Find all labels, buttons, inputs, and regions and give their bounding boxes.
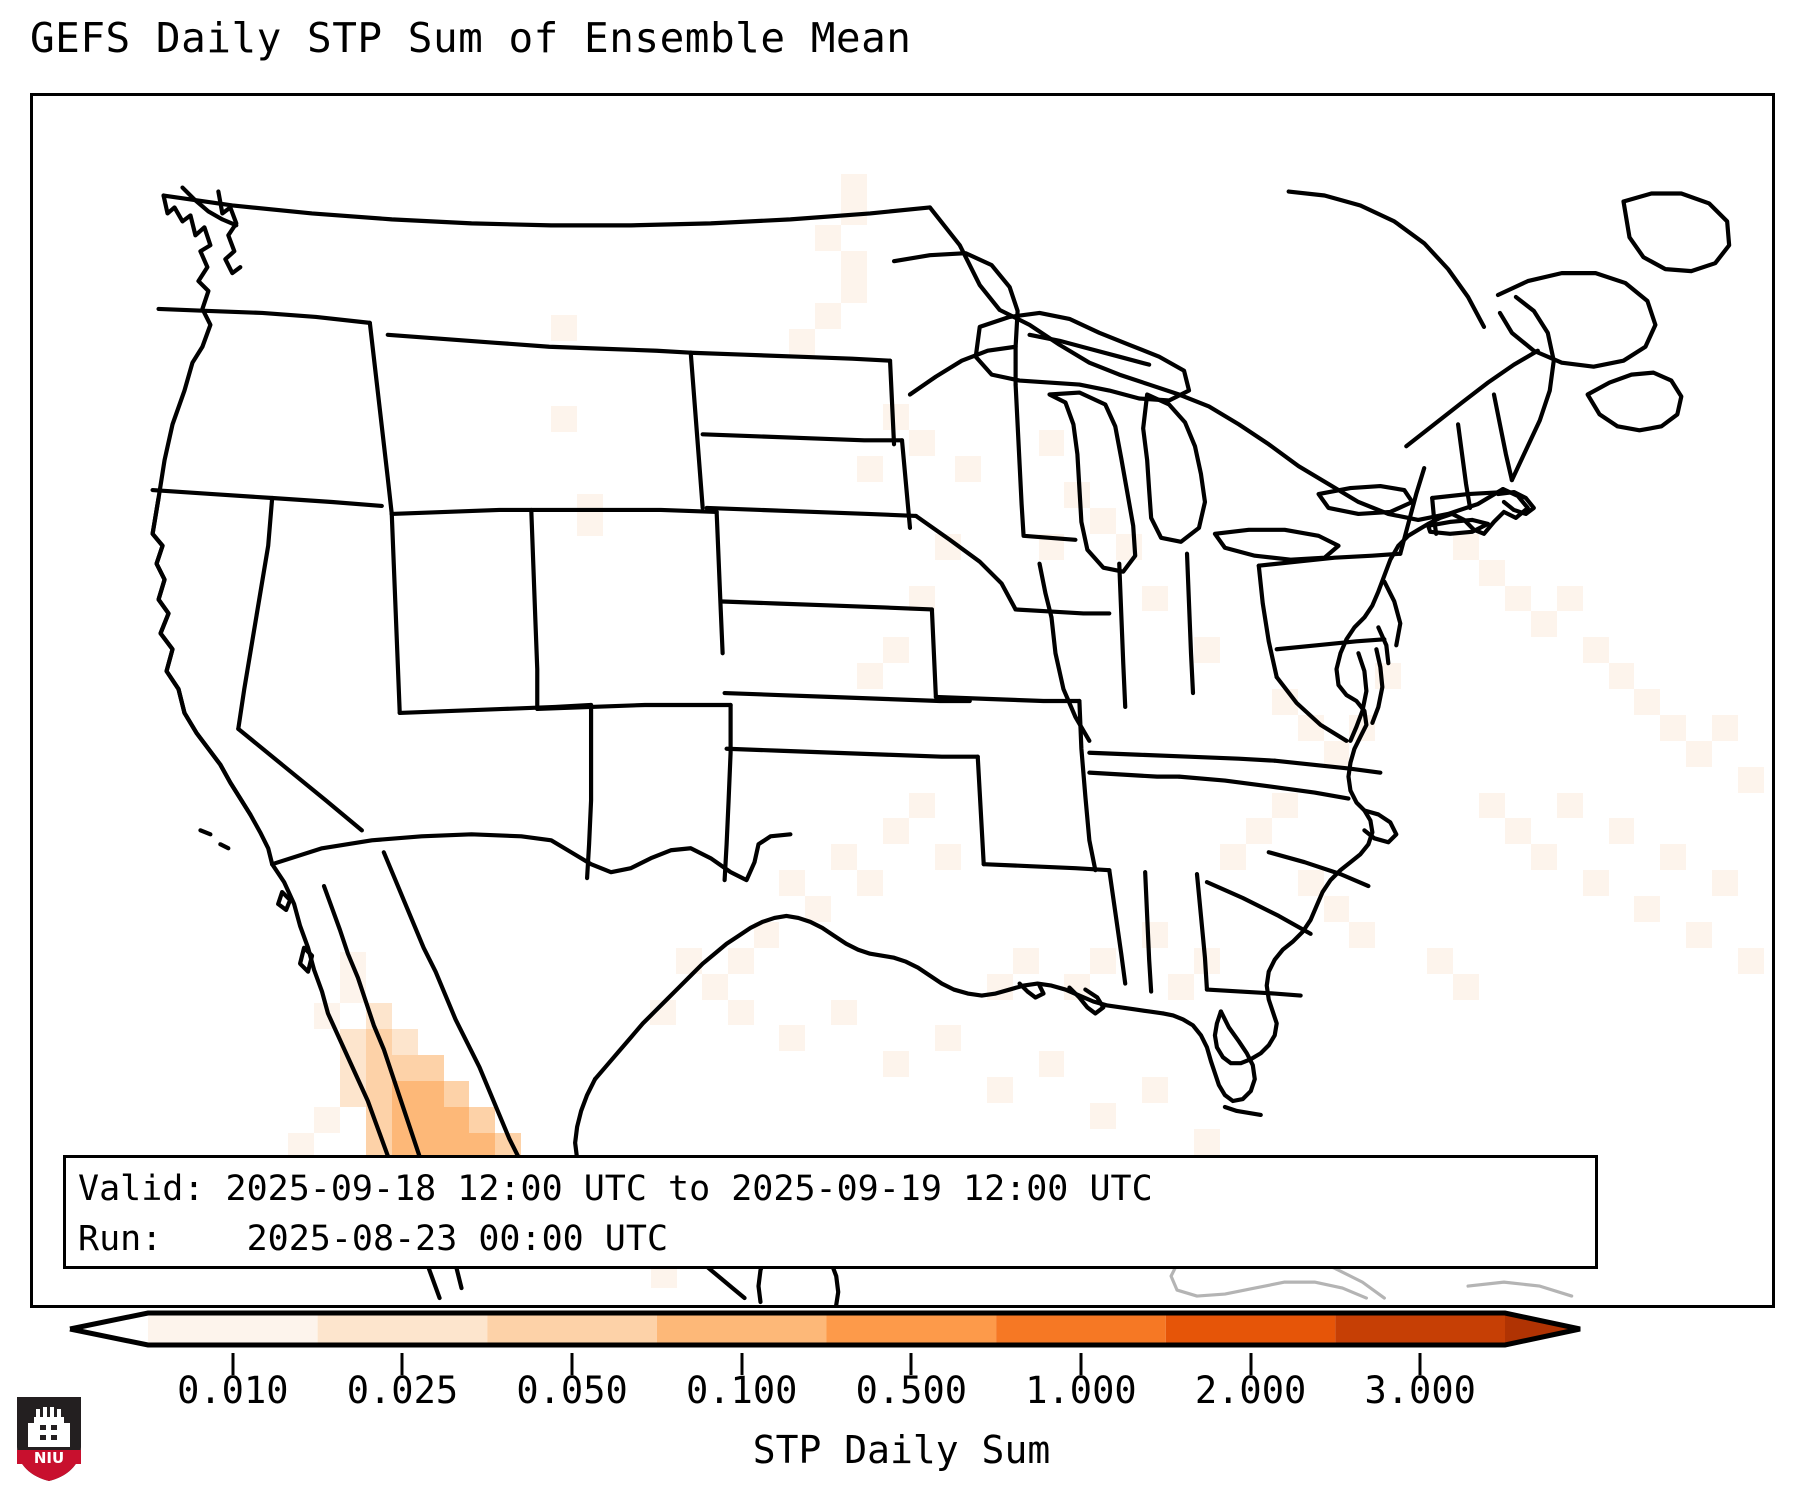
border-va-nc	[1275, 761, 1381, 773]
weather-map-figure: GEFS Daily STP Sum of Ensemble Mean	[0, 0, 1803, 1500]
border-mo-ia	[1016, 609, 1110, 613]
coast-california	[153, 498, 273, 864]
colorbar-tick-label: 0.050	[516, 1369, 627, 1412]
run-time-line: Run: 2025-08-23 00:00 UTC	[78, 1214, 1595, 1264]
border-tn-ga-nc	[1179, 777, 1348, 799]
info-box: Valid: 2025-09-18 12:00 UTC to 2025-09-1…	[63, 1155, 1598, 1269]
border-ga-sc	[1207, 882, 1311, 934]
niu-logo-text: NIU	[34, 1449, 64, 1467]
florida-keys	[1225, 1107, 1261, 1115]
colorbar-axis-label: STP Daily Sum	[0, 1428, 1803, 1472]
border-oh-pa-wv	[1259, 566, 1277, 677]
quebec-coast	[1289, 192, 1484, 327]
border-us-canada	[164, 196, 930, 226]
colorbar-band	[1335, 1313, 1505, 1345]
border-id-mt-wy	[370, 323, 392, 514]
border-mi-upper	[1030, 335, 1150, 365]
border-nh-me	[1494, 395, 1512, 481]
border-ga-fl	[1207, 990, 1301, 996]
lake-michigan	[1049, 393, 1135, 572]
hispaniola	[1468, 1282, 1572, 1296]
border-nd-sd	[703, 434, 902, 440]
colorbar-tick-label: 1.000	[1025, 1369, 1136, 1412]
channel-islands	[200, 830, 228, 848]
colorbar-band	[827, 1313, 997, 1345]
border-in-oh	[1187, 554, 1193, 693]
colorbar-band	[1166, 1313, 1336, 1345]
border-mn-canada	[894, 253, 1018, 347]
colorbar-band	[318, 1313, 488, 1345]
newfoundland	[1624, 194, 1730, 272]
border-ms-tn	[1089, 773, 1179, 777]
border-wa-or	[159, 309, 370, 323]
border-wy-sd-ne	[691, 353, 703, 508]
border-wv-va	[1277, 677, 1347, 741]
border-nm-tx	[725, 705, 731, 880]
colorbar-tick-label: 0.010	[177, 1369, 288, 1412]
colorbar-tick-label: 0.100	[686, 1369, 797, 1412]
border-sd-ne	[707, 508, 916, 516]
border-pa-md	[1277, 639, 1385, 649]
st-lawrence-river	[1406, 351, 1538, 447]
border-us-mexico	[272, 834, 790, 880]
coast-florida	[1163, 1011, 1255, 1101]
coast-pacific-northwest	[153, 196, 251, 815]
lake-ontario	[1319, 486, 1413, 514]
baja-island-2	[300, 948, 312, 972]
border-ar-la	[984, 864, 1110, 870]
border-me-canada	[1512, 297, 1554, 480]
colorbar-band	[996, 1313, 1166, 1345]
page-title: GEFS Daily STP Sum of Ensemble Mean	[30, 14, 911, 62]
lake-huron	[1143, 395, 1205, 542]
delmarva	[1372, 649, 1382, 723]
colorbar-tick-label: 3.000	[1364, 1369, 1475, 1412]
border-ut-co	[531, 510, 537, 709]
border-nv-ut	[392, 514, 400, 713]
border-nv-ca-south	[238, 729, 362, 830]
border-la-ms	[1109, 870, 1125, 983]
colorbar[interactable]: 0.0100.0250.0500.1000.5001.0002.0003.000	[0, 1305, 1803, 1365]
colorbar-tick-label: 2.000	[1195, 1369, 1306, 1412]
border-wy-co	[392, 510, 717, 514]
border-ks-ok	[725, 693, 970, 701]
border-ne-ks	[723, 601, 932, 609]
nova-scotia	[1588, 373, 1682, 431]
border-or-ca	[153, 490, 382, 506]
border-ks-mo	[932, 609, 936, 697]
border-ca-nv	[238, 498, 272, 729]
border-il-in	[1119, 564, 1125, 707]
border-co-ks	[717, 512, 723, 653]
border-ny-vt-nh	[1400, 468, 1424, 554]
border-az-nm	[587, 705, 591, 878]
border-wi-mn	[910, 347, 1016, 395]
border-al-ga	[1197, 874, 1207, 989]
border-ok-tx	[727, 749, 978, 757]
border-ok-ar-tx	[978, 757, 984, 864]
border-nd-mn	[890, 361, 894, 445]
colorbar-band	[657, 1313, 827, 1345]
lake-erie	[1215, 530, 1339, 560]
gulf-st-lawrence	[1498, 273, 1655, 367]
colorbar-tick-axis: 0.0100.0250.0500.1000.5001.0002.0003.000	[0, 1353, 1803, 1423]
niu-shield-logo: NIU	[14, 1395, 84, 1483]
colorbar-band	[487, 1313, 657, 1345]
border-nj	[1384, 582, 1400, 646]
colorbar-tick-label: 0.025	[347, 1369, 458, 1412]
border-ne-ia-mo	[916, 516, 1016, 610]
border-ms-al	[1145, 872, 1151, 991]
border-ct-ny	[1432, 498, 1436, 534]
border-mo-il-ky	[1051, 617, 1089, 740]
border-mt-wy	[388, 335, 691, 353]
colorbar-tick-label: 0.500	[856, 1369, 967, 1412]
map-panel[interactable]	[30, 93, 1775, 1308]
valid-time-line: Valid: 2025-09-18 12:00 UTC to 2025-09-1…	[78, 1164, 1595, 1214]
border-mt-nd	[691, 353, 890, 361]
border-ky-tn	[1089, 753, 1274, 761]
geography-layer	[33, 96, 1772, 1305]
colorbar-band	[148, 1313, 318, 1345]
